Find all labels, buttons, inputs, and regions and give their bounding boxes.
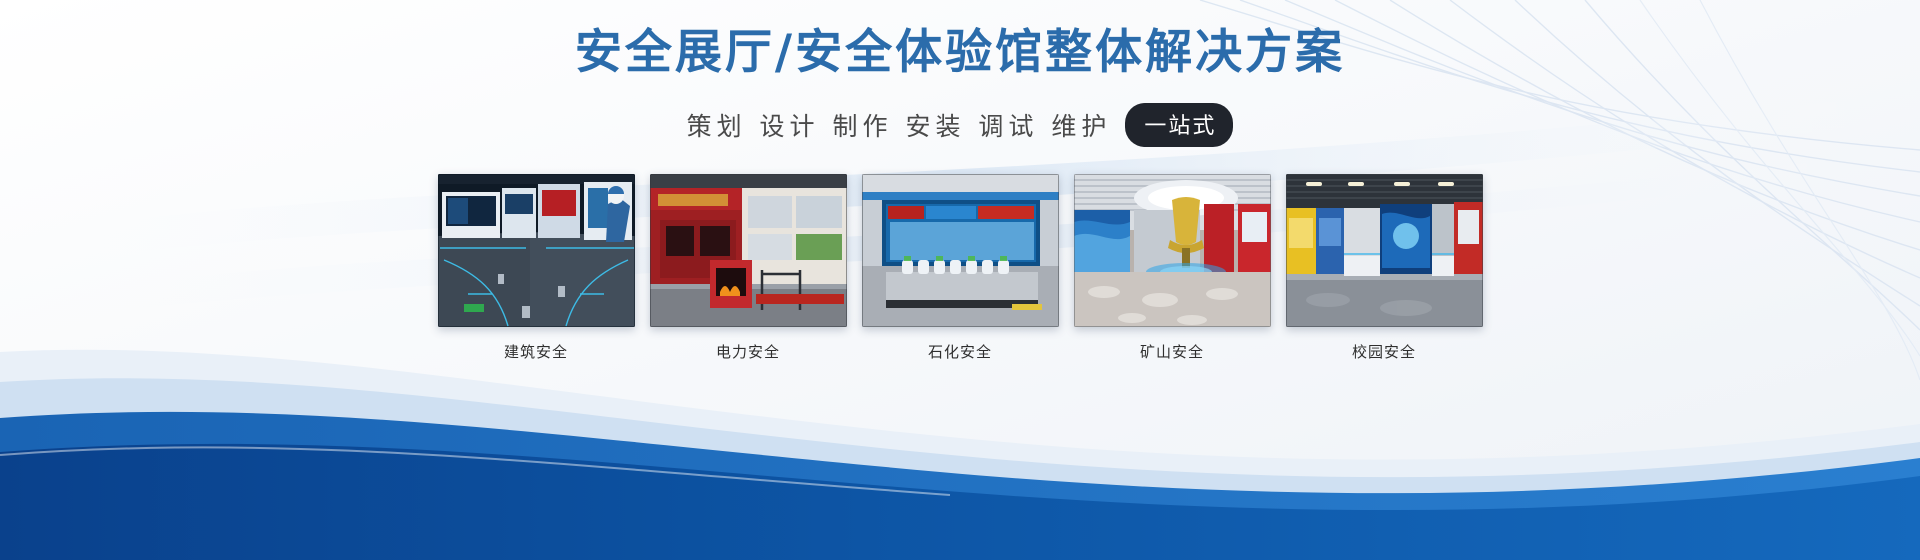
gallery-card-caption: 石化安全 xyxy=(928,341,992,362)
gallery-card[interactable]: 电力安全 xyxy=(650,174,847,362)
gallery-card-caption: 建筑安全 xyxy=(504,341,568,362)
gallery-card-caption: 校园安全 xyxy=(1352,341,1416,362)
construction-safety-exhibition-hall-photo[interactable] xyxy=(438,174,635,327)
gallery-card[interactable]: 石化安全 xyxy=(862,174,1059,362)
gallery-card[interactable]: 校园安全 xyxy=(1286,174,1483,362)
gallery-card[interactable]: 矿山安全 xyxy=(1074,174,1271,362)
page-title: 安全展厅/安全体验馆整体解决方案 xyxy=(575,26,1345,80)
one-stop-badge: 一站式 xyxy=(1125,103,1233,147)
mining-safety-exhibition-hall-photo[interactable] xyxy=(1074,174,1271,327)
gallery-card-caption: 电力安全 xyxy=(716,341,780,362)
campus-safety-exhibition-hall-photo[interactable] xyxy=(1286,174,1483,327)
subtitle-row: 策划 设计 制作 安装 调试 维护 一站式 xyxy=(687,103,1234,147)
service-steps-text: 策划 设计 制作 安装 调试 维护 xyxy=(687,107,1112,143)
gallery-card[interactable]: 建筑安全 xyxy=(438,174,635,362)
petrochemical-safety-exhibition-hall-photo[interactable] xyxy=(862,174,1059,327)
promo-banner: 安全展厅/安全体验馆整体解决方案 策划 设计 制作 安装 调试 维护 一站式 xyxy=(0,0,1920,560)
gallery-card-caption: 矿山安全 xyxy=(1140,341,1204,362)
electric-power-safety-exhibition-hall-photo[interactable] xyxy=(650,174,847,327)
thumbnail-gallery: 建筑安全 xyxy=(438,174,1483,362)
